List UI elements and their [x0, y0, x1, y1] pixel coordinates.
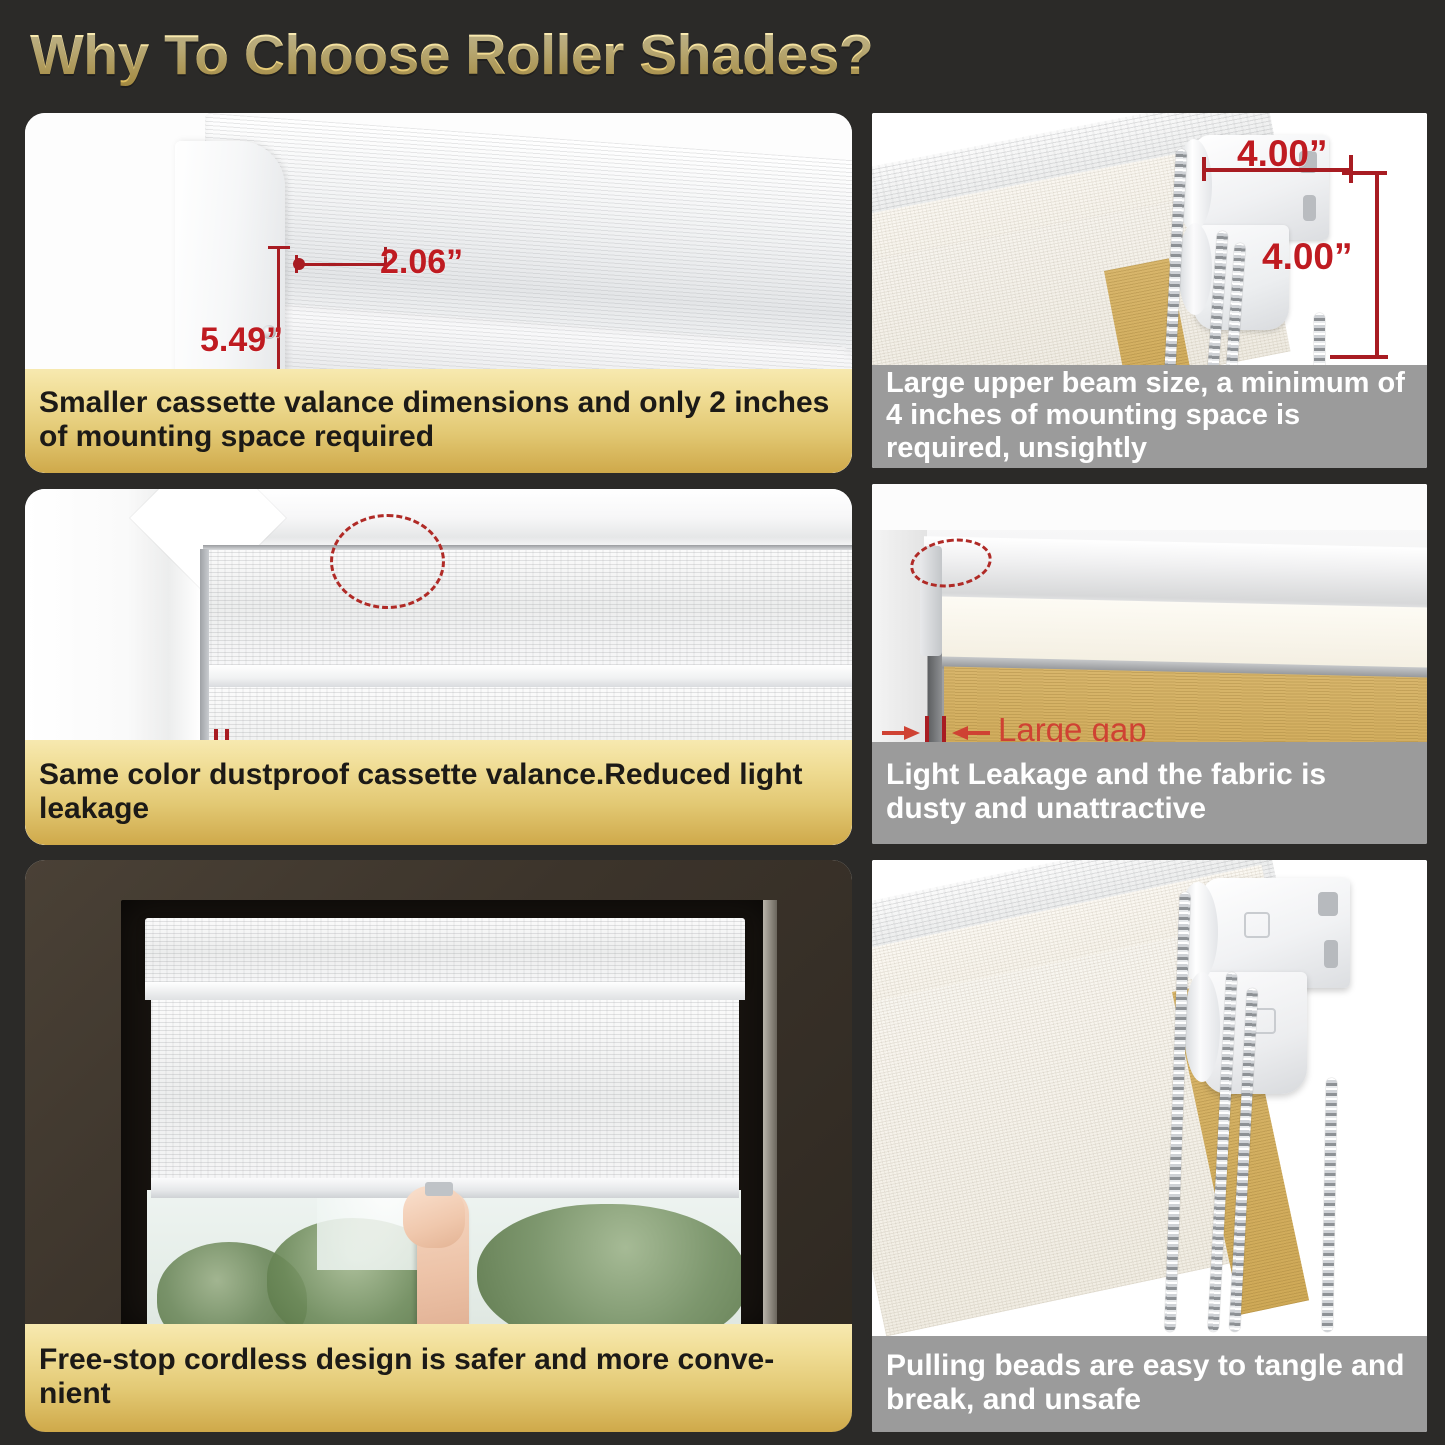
tree-foliage	[477, 1204, 741, 1332]
panel-caption: Smaller cassette valance dimensions and …	[25, 369, 852, 473]
panel-cordless-design: Free-stop cordless design is safer and m…	[25, 860, 852, 1432]
height-dimension-tick-top	[1342, 171, 1387, 175]
panel-pulling-beads: Pulling beads are easy to tangle and bre…	[872, 860, 1427, 1432]
shade-fabric	[151, 1000, 739, 1195]
panel-large-upper-beam: 4.00” 4.00” Large upper beam size, a min…	[872, 113, 1427, 468]
valance-top-edge	[203, 545, 852, 550]
panel-caption: Same color dustproof cassette valance.Re…	[25, 740, 852, 845]
valance-lip	[145, 982, 745, 1000]
pull-tab	[425, 1182, 453, 1196]
width-dimension-tick-left	[1202, 157, 1206, 181]
end-cap-slot-icon	[208, 237, 250, 275]
cassette-valance	[145, 918, 745, 986]
panel-light-leakage: Large gap Light Leakage and the fabric i…	[872, 484, 1427, 844]
wall-top	[872, 484, 1427, 530]
width-dimension-dot	[293, 258, 305, 270]
roller-end-disc	[1178, 223, 1212, 315]
panel-cassette-dimensions: 5.49” 2.06” Smaller cassette valance dim…	[25, 113, 852, 473]
window-frame-right	[763, 900, 777, 1332]
panel-caption: Light Leakage and the fabric is dusty an…	[872, 742, 1427, 844]
highlight-ellipse	[330, 514, 445, 609]
width-dimension-tick-right	[1349, 155, 1353, 183]
width-dimension-line	[295, 263, 387, 266]
panel-caption: Pulling beads are easy to tangle and bre…	[872, 1336, 1427, 1432]
bead-chain	[1322, 1078, 1337, 1332]
roller-end-disc	[1184, 972, 1220, 1082]
height-dimension-label: 5.49”	[200, 321, 283, 360]
width-dimension-label: 2.06”	[380, 243, 463, 282]
valance-bottom-lip	[203, 665, 852, 687]
panel-caption: Large upper beam size, a minimum of 4 in…	[872, 365, 1427, 468]
height-dimension-tick-bottom	[1330, 355, 1388, 359]
panel-caption: Free-stop cordless design is safer and m…	[25, 1324, 852, 1432]
bracket-slot-icon	[1318, 892, 1338, 916]
bracket-logo-icon	[1244, 912, 1270, 938]
cassette-valance	[203, 547, 852, 665]
height-dimension-label: 4.00”	[1262, 236, 1353, 278]
width-dimension-label: 4.00”	[1237, 133, 1328, 175]
panel-smaller-gap: smaller gap Same color dustproof cassett…	[25, 489, 852, 845]
gap-arrow-left-icon	[882, 722, 920, 744]
gap-arrow-right-icon	[952, 722, 990, 744]
page-title: Why To Choose Roller Shades?	[30, 22, 873, 88]
bracket-slot-icon	[1303, 195, 1316, 221]
height-dimension-tick-top	[268, 246, 290, 249]
bracket-slot-icon	[1324, 940, 1338, 968]
height-dimension-line	[1375, 171, 1379, 359]
